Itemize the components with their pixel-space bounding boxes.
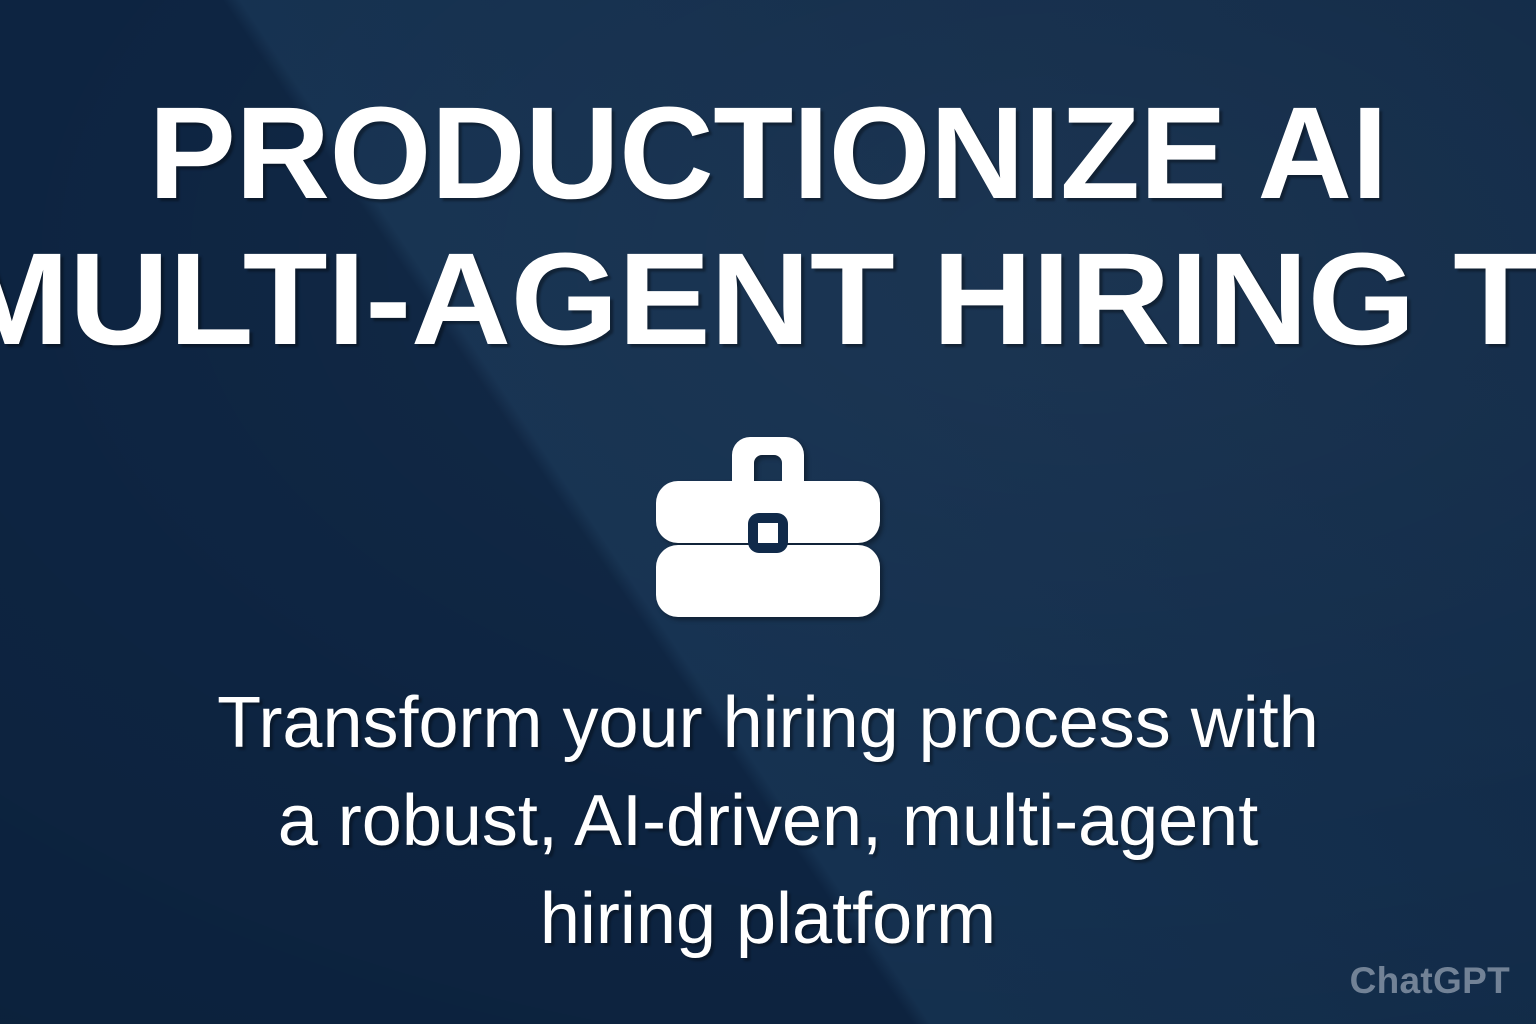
chatgpt-watermark: ChatGPT: [1350, 960, 1510, 1002]
page-title: PRODUCTIONIZE AI MULTI-AGENT HIRING TOOL: [0, 86, 1536, 365]
slide-canvas: PRODUCTIONIZE AI MULTI-AGENT HIRING TOOL…: [0, 0, 1536, 1024]
title-line-1: PRODUCTIONIZE AI: [0, 86, 1536, 220]
title-line-2: MULTI-AGENT HIRING TOOL: [0, 232, 1536, 366]
slide-content: PRODUCTIONIZE AI MULTI-AGENT HIRING TOOL…: [0, 0, 1536, 1024]
subtitle-line-2: a robust, AI-driven, multi-agent: [217, 773, 1319, 871]
subtitle-line-1: Transform your hiring process with: [217, 675, 1319, 773]
subtitle-line-3: hiring platform: [217, 871, 1319, 969]
briefcase-icon: [654, 423, 882, 619]
subtitle: Transform your hiring process with a rob…: [217, 675, 1319, 969]
